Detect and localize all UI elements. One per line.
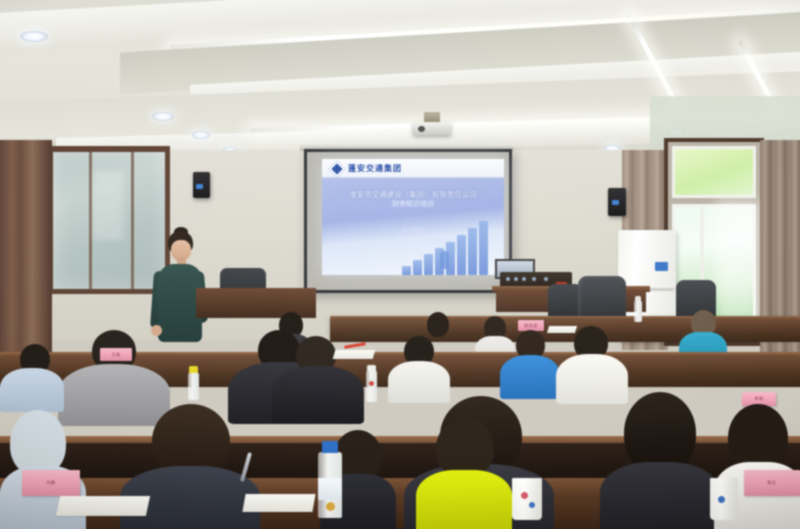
downlight-3 <box>192 131 210 139</box>
photograph-scene: 蓬安交通集团 淮安市交通建设（集团）有限责任公司 财务知识培训 2017年9月 <box>0 0 800 529</box>
paper-cup-near-2 <box>710 478 738 520</box>
attendee-b4 <box>388 336 450 398</box>
name-card-text: 陈红 <box>768 480 777 486</box>
attendee-b6 <box>556 326 628 398</box>
wall-speaker-right <box>608 188 626 216</box>
attendee-b3 <box>272 336 364 420</box>
slide-subtitle: 财务知识培训 <box>322 200 504 210</box>
front-office-chair <box>578 276 626 320</box>
name-card-text: 王丽 <box>112 352 121 358</box>
art-figure-icon <box>440 251 449 269</box>
water-bottle-near-1 <box>318 452 342 518</box>
art-bar-3 <box>424 254 433 275</box>
attendee-torso <box>0 368 64 412</box>
art-bar-2 <box>413 260 422 275</box>
attendee-torso <box>416 470 512 529</box>
bottle-cap <box>635 296 641 301</box>
projected-slide: 蓬安交通集团 淮安市交通建设（集团）有限责任公司 财务知识培训 2017年9月 <box>322 159 504 275</box>
wall-speaker-left <box>193 172 210 198</box>
cup-pattern-dot <box>521 492 528 499</box>
glass-mullion-1 <box>89 152 92 289</box>
downlight-1 <box>20 31 48 42</box>
attendee-b5 <box>500 330 560 394</box>
name-card-text: 李明 <box>755 396 764 402</box>
cup-pattern-dot <box>718 496 725 503</box>
slide-title: 淮安市交通建设（集团）有限责任公司 <box>322 189 504 200</box>
console-knob-3 <box>522 277 526 281</box>
paper-cup-near-1 <box>512 478 542 520</box>
paper-sheet-near-2 <box>242 494 315 512</box>
attendee-b7 <box>0 344 64 406</box>
attendee-head <box>436 418 494 478</box>
cabinet-badge <box>655 262 668 271</box>
speaker-led-right <box>612 200 619 205</box>
paper-sheet-near-1 <box>56 496 150 516</box>
attendee-torso <box>500 355 560 399</box>
name-card-text: 财务部 <box>524 323 538 329</box>
name-card-near-1: 刘静 <box>22 470 80 496</box>
slide-logo-text: 蓬安交通集团 <box>348 163 402 174</box>
glass-reflection <box>93 170 123 240</box>
attendee-torso <box>272 366 364 424</box>
console-knob-5 <box>544 277 548 281</box>
console-knob-1 <box>506 277 510 281</box>
attendee-c4 <box>416 418 512 529</box>
bottle-cap-yellow <box>189 366 198 373</box>
bottle-label-dot <box>326 502 335 511</box>
paper-sheet-mid-1 <box>333 350 376 359</box>
speaker-led-left <box>196 184 203 189</box>
art-bar-1 <box>402 266 411 275</box>
art-bar-8 <box>479 221 488 275</box>
front-chair-secondary <box>548 284 582 320</box>
window-transom <box>672 146 756 198</box>
attendee-torso <box>600 462 720 529</box>
water-bottle-mid-2 <box>366 370 377 402</box>
art-bar-6 <box>457 235 466 275</box>
bottle-label-dot <box>369 381 374 386</box>
console-knob-2 <box>514 277 518 281</box>
art-bar-7 <box>468 228 477 275</box>
console-knob-4 <box>532 277 536 281</box>
bottle-cap <box>367 365 376 371</box>
name-card-text: 刘静 <box>47 480 56 486</box>
water-bottle-mid-1 <box>188 372 199 400</box>
name-card-mid-1: 王丽 <box>100 348 132 361</box>
projector-lens-icon <box>418 126 425 132</box>
downlight-2 <box>152 112 174 121</box>
water-bottle-far-1 <box>634 300 642 322</box>
glass-mullion-2 <box>131 152 134 289</box>
slide-bar-graphic <box>400 219 500 275</box>
attendee-c5 <box>600 392 720 529</box>
bottle-label <box>318 478 342 500</box>
cup-pattern-dot <box>529 502 535 508</box>
name-card-near-2: 陈红 <box>744 470 800 496</box>
bottle-cap-blue <box>322 441 338 453</box>
